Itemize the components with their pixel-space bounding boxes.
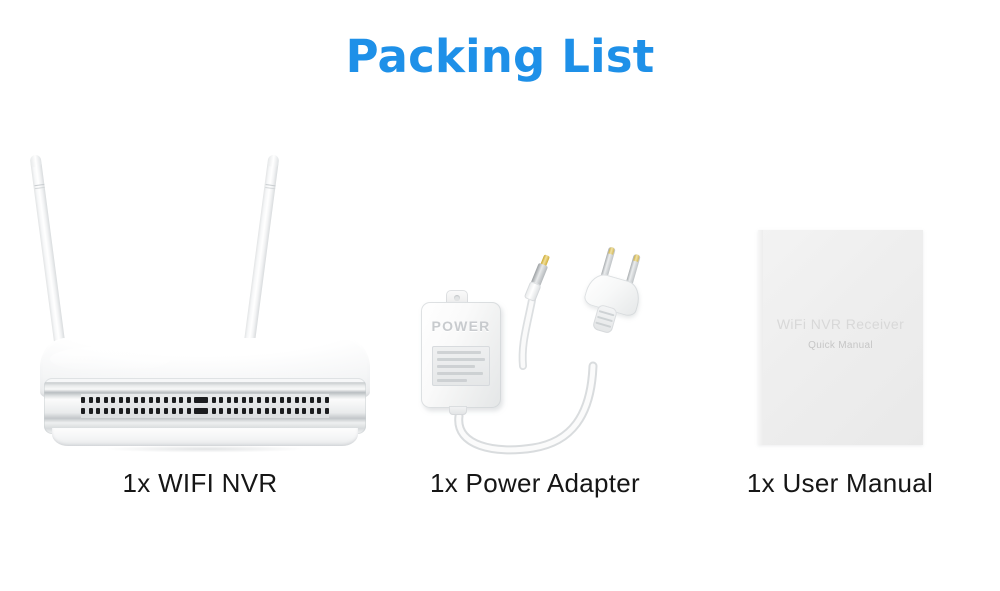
vent-hole (81, 397, 85, 403)
manual-cover-subtitle: Quick Manual (758, 340, 923, 351)
router-illustration (40, 120, 370, 460)
vent-hole (81, 408, 85, 414)
vent-hole (287, 397, 291, 403)
vent-hole (317, 397, 321, 403)
vent-hole (219, 408, 223, 414)
vent-hole (295, 397, 299, 403)
vent-hole (265, 397, 269, 403)
vent-hole (227, 397, 231, 403)
vent-hole (111, 408, 115, 414)
vent-row-bottom (81, 408, 329, 414)
vent-hole (227, 408, 231, 414)
vent-hole (104, 397, 108, 403)
vent-hole (164, 408, 168, 414)
vent-hole (96, 397, 100, 403)
adapter-cable-strain-relief (449, 406, 467, 415)
router-body-ridges (44, 378, 366, 434)
adapter-brick-body: POWER (421, 302, 501, 408)
vent-hole (172, 397, 176, 403)
vent-hole (295, 408, 299, 414)
vent-hole (212, 397, 216, 403)
vent-hole (179, 408, 183, 414)
vent-hole (149, 408, 153, 414)
user-manual-figure: WiFi NVR Receiver Quick Manual (680, 120, 1000, 460)
vent-hole (104, 408, 108, 414)
vent-hole (242, 397, 246, 403)
vent-hole (265, 408, 269, 414)
vent-hole (164, 397, 168, 403)
manual-cover: WiFi NVR Receiver Quick Manual (758, 230, 923, 445)
vent-hole (310, 397, 314, 403)
vent-hole (172, 408, 176, 414)
router-drop-shadow (66, 444, 344, 454)
manual-spine (758, 230, 763, 445)
vent-hole (219, 397, 223, 403)
item-caption-wifi-nvr: 1x WIFI NVR (0, 468, 400, 499)
eu-plug-pin-tip (633, 254, 640, 262)
vent-hole (287, 408, 291, 414)
vent-hole (96, 408, 100, 414)
vent-hole (234, 408, 238, 414)
vent-hole (280, 397, 284, 403)
vent-hole (134, 397, 138, 403)
eu-plug-pin-tip (608, 247, 615, 255)
vent-hole (310, 408, 314, 414)
vent-hole (179, 397, 183, 403)
vent-hole (257, 408, 261, 414)
list-item-power-adapter: POWER (385, 120, 685, 540)
vent-hole (272, 397, 276, 403)
vent-row-top (81, 397, 329, 403)
vent-hole (194, 408, 208, 414)
page-title: Packing List (0, 34, 1000, 79)
vent-hole (249, 408, 253, 414)
vent-hole (272, 408, 276, 414)
manual-cover-title: WiFi NVR Receiver (758, 316, 923, 332)
vent-hole (119, 397, 123, 403)
vent-hole (126, 408, 130, 414)
adapter-power-label: POWER (421, 318, 501, 334)
vent-hole (302, 408, 306, 414)
vent-hole (187, 397, 191, 403)
vent-hole (187, 408, 191, 414)
vent-hole (134, 408, 138, 414)
power-adapter-illustration: POWER (415, 240, 665, 460)
vent-hole (149, 397, 153, 403)
item-caption-user-manual: 1x User Manual (680, 468, 1000, 499)
list-item-wifi-nvr: 1x WIFI NVR (0, 120, 400, 540)
vent-hole (119, 408, 123, 414)
vent-hole (194, 397, 208, 403)
vent-hole (234, 397, 238, 403)
vent-hole (156, 397, 160, 403)
vent-hole (325, 408, 329, 414)
vent-hole (141, 397, 145, 403)
vent-hole (156, 408, 160, 414)
vent-hole (302, 397, 306, 403)
vent-hole (249, 397, 253, 403)
wifi-nvr-figure (0, 120, 400, 460)
vent-hole (111, 397, 115, 403)
vent-hole (126, 397, 130, 403)
user-manual-illustration: WiFi NVR Receiver Quick Manual (758, 230, 923, 445)
router-ventilation-grille (81, 394, 329, 418)
vent-hole (89, 397, 93, 403)
list-item-user-manual: WiFi NVR Receiver Quick Manual 1x User M… (680, 120, 1000, 540)
vent-hole (89, 408, 93, 414)
vent-hole (317, 408, 321, 414)
vent-hole (141, 408, 145, 414)
vent-hole (325, 397, 329, 403)
item-caption-power-adapter: 1x Power Adapter (385, 468, 685, 499)
vent-hole (212, 408, 216, 414)
power-adapter-figure: POWER (385, 120, 685, 460)
adapter-spec-label (432, 346, 490, 386)
vent-hole (257, 397, 261, 403)
packing-list-items: 1x WIFI NVR POWER (0, 120, 1000, 540)
vent-hole (280, 408, 284, 414)
vent-hole (242, 408, 246, 414)
